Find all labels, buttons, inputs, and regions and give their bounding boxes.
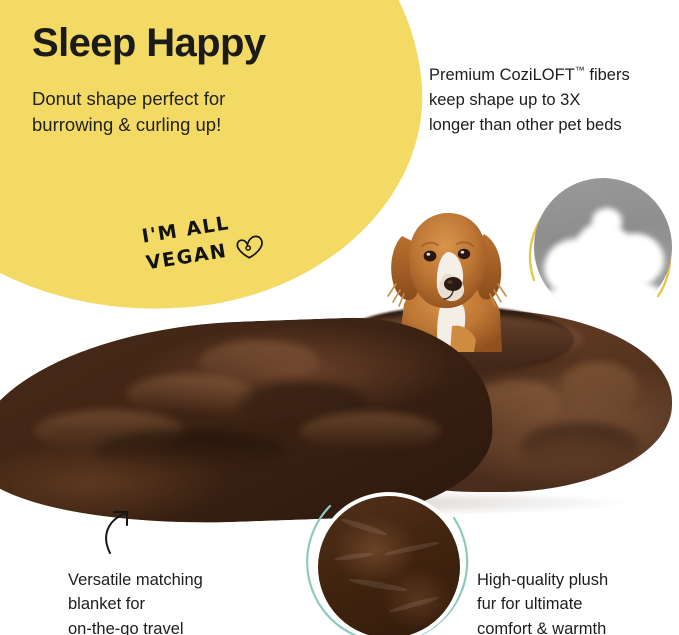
feature-br-line-2: fur for ultimate bbox=[477, 592, 679, 616]
feature-tr-line-1: Premium CoziLOFT™ fibers bbox=[429, 63, 679, 88]
hero-subtitle-line-2: burrowing & curling up! bbox=[32, 112, 322, 138]
bed-texture-2 bbox=[560, 362, 638, 414]
fiber-inset bbox=[510, 162, 679, 332]
fur-strand-1 bbox=[340, 517, 388, 538]
hero-subtitle-line-1: Donut shape perfect for bbox=[32, 86, 322, 112]
fiber-puff-6 bbox=[592, 208, 622, 234]
feature-tr-line-2: keep shape up to 3X bbox=[429, 88, 679, 113]
blanket-fold-3 bbox=[200, 340, 320, 384]
feature-br-line-1: High-quality plush bbox=[477, 568, 679, 592]
product-marketing-image: Sleep Happy Donut shape perfect for burr… bbox=[0, 0, 679, 635]
fur-strand-5 bbox=[334, 551, 374, 562]
fur-closeup-disc bbox=[314, 492, 464, 635]
heart-icon bbox=[233, 232, 267, 262]
feature-text-top-right: Premium CoziLOFT™ fibers keep shape up t… bbox=[429, 63, 679, 137]
blanket-shadow-1 bbox=[96, 430, 286, 470]
feature-bl-line-1: Versatile matching bbox=[68, 568, 278, 592]
fur-inset bbox=[294, 478, 484, 635]
feature-text-bottom-right: High-quality plush fur for ultimate comf… bbox=[477, 568, 679, 635]
page-title: Sleep Happy bbox=[32, 22, 265, 65]
fiber-closeup-disc bbox=[534, 178, 672, 316]
hero-subtitle: Donut shape perfect for burrowing & curl… bbox=[32, 86, 322, 139]
feature-tr-line-1-pre: Premium CoziLOFT bbox=[429, 66, 575, 84]
fur-strand-4 bbox=[388, 595, 439, 614]
bed-shadow-1 bbox=[520, 422, 640, 470]
blanket-fold-4 bbox=[300, 412, 440, 450]
fur-strand-2 bbox=[384, 540, 440, 557]
feature-tr-line-3: longer than other pet beds bbox=[429, 113, 679, 138]
feature-bl-line-2: blanket for bbox=[68, 592, 278, 616]
curved-arrow-icon bbox=[96, 503, 154, 557]
feature-br-line-3: comfort & warmth bbox=[477, 617, 679, 635]
trademark-symbol: ™ bbox=[575, 66, 585, 77]
feature-tr-line-1-post: fibers bbox=[585, 66, 630, 84]
feature-text-bottom-left: Versatile matching blanket for on-the-go… bbox=[68, 568, 278, 635]
feature-bl-line-3: on-the-go travel bbox=[68, 617, 278, 635]
fur-strand-3 bbox=[348, 577, 408, 593]
